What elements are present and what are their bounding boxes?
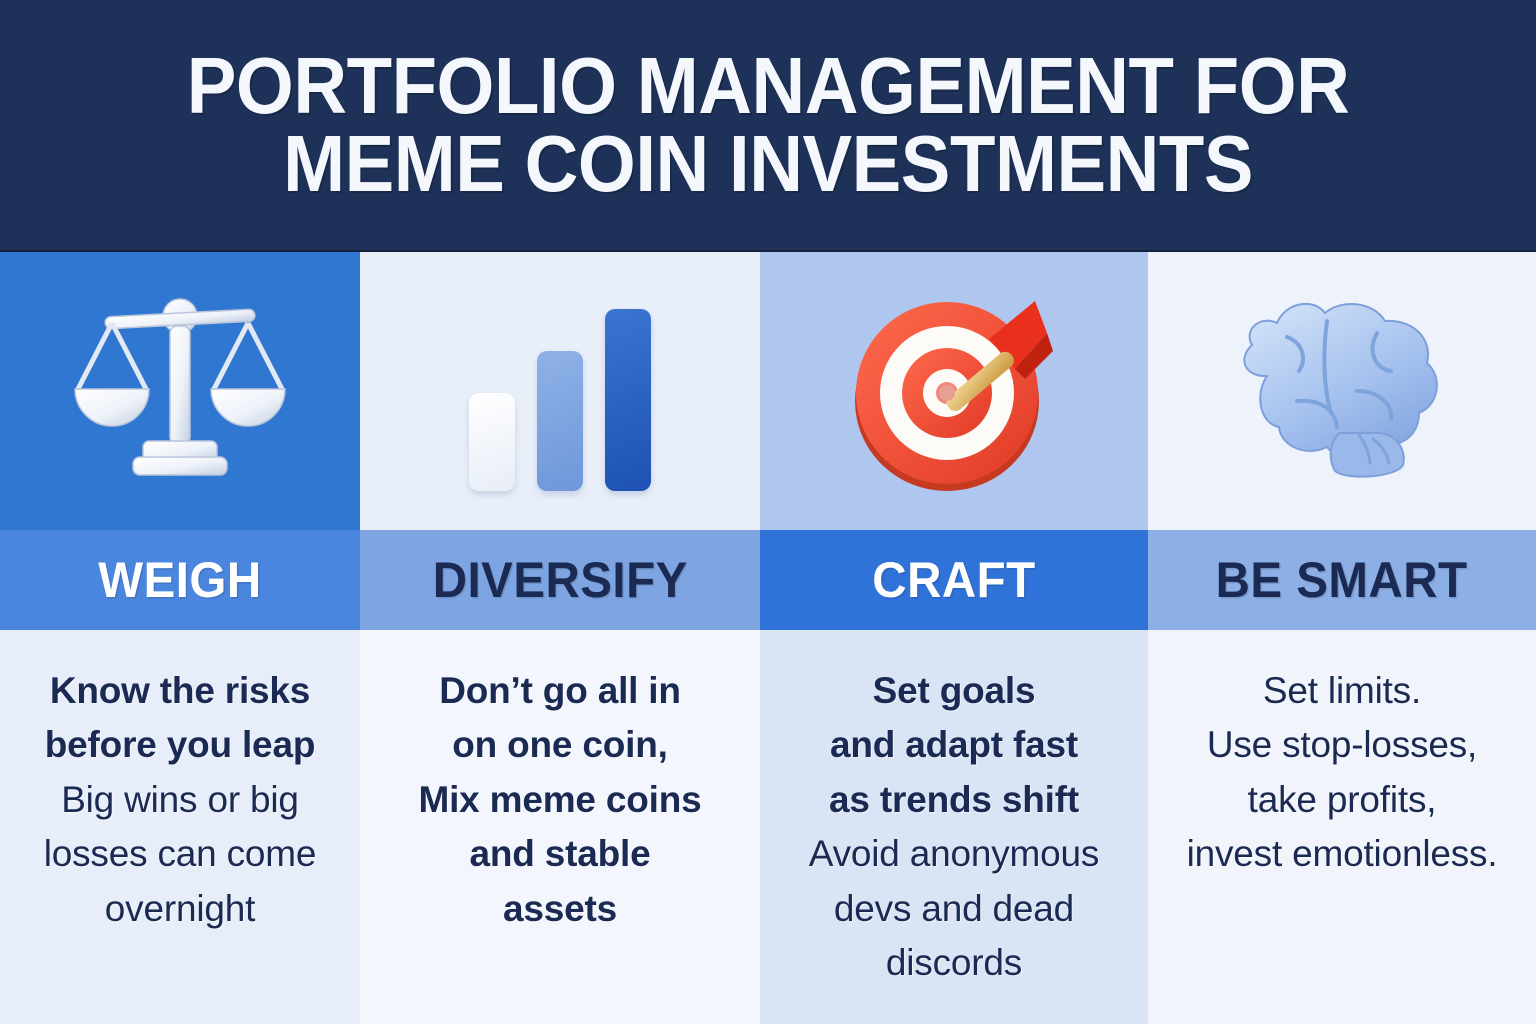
icon-cell-craft bbox=[760, 252, 1148, 530]
body-line: devs and dead bbox=[778, 882, 1130, 936]
icon-cell-be-smart bbox=[1148, 252, 1536, 530]
body-line: losses can come bbox=[18, 827, 342, 881]
icon-cell-diversify bbox=[360, 252, 760, 530]
bar-small bbox=[469, 393, 515, 491]
icon-cell-weigh bbox=[0, 252, 360, 530]
body-line: take profits, bbox=[1166, 773, 1518, 827]
body-line: and adapt fast bbox=[778, 718, 1130, 772]
body-line: Set limits. bbox=[1166, 664, 1518, 718]
columns-grid: WEIGH DIVERSIFY CRAFT BE SMART Know the … bbox=[0, 252, 1536, 1024]
body-line: Set goals bbox=[778, 664, 1130, 718]
column-label-diversify: DIVERSIFY bbox=[432, 551, 687, 609]
label-cell-diversify: DIVERSIFY bbox=[360, 530, 760, 630]
body-line: as trends shift bbox=[778, 773, 1130, 827]
body-line: Big wins or big bbox=[18, 773, 342, 827]
bar-chart-icon bbox=[469, 291, 651, 491]
column-label-craft: CRAFT bbox=[872, 551, 1035, 609]
balance-scale-icon bbox=[65, 281, 295, 501]
body-line: assets bbox=[378, 882, 742, 936]
body-line: discords bbox=[778, 936, 1130, 990]
brain-icon bbox=[1227, 281, 1457, 501]
body-line: invest emotionless. bbox=[1166, 827, 1518, 881]
body-line: Know the risks bbox=[18, 664, 342, 718]
body-line: and stable bbox=[378, 827, 742, 881]
body-line: Avoid anonymous bbox=[778, 827, 1130, 881]
body-line: Don’t go all in bbox=[378, 664, 742, 718]
body-cell-craft: Set goalsand adapt fastas trends shiftAv… bbox=[760, 630, 1148, 1024]
body-line: Mix meme coins bbox=[378, 773, 742, 827]
body-line: overnight bbox=[18, 882, 342, 936]
column-label-be-smart: BE SMART bbox=[1216, 551, 1468, 609]
body-cell-be-smart: Set limits.Use stop-losses,take profits,… bbox=[1148, 630, 1536, 1024]
body-cell-weigh: Know the risksbefore you leapBig wins or… bbox=[0, 630, 360, 1024]
dart-target-icon bbox=[839, 281, 1069, 501]
column-label-weigh: WEIGH bbox=[98, 551, 261, 609]
body-line: on one coin, bbox=[378, 718, 742, 772]
label-cell-weigh: WEIGH bbox=[0, 530, 360, 630]
bar-large bbox=[605, 309, 651, 491]
header-banner: PORTFOLIO MANAGEMENT FOR MEME COIN INVES… bbox=[0, 0, 1536, 252]
label-cell-craft: CRAFT bbox=[760, 530, 1148, 630]
infographic-root: PORTFOLIO MANAGEMENT FOR MEME COIN INVES… bbox=[0, 0, 1536, 1024]
body-line: before you leap bbox=[18, 718, 342, 772]
label-cell-be-smart: BE SMART bbox=[1148, 530, 1536, 630]
bar-medium bbox=[537, 351, 583, 491]
page-title: PORTFOLIO MANAGEMENT FOR MEME COIN INVES… bbox=[187, 47, 1350, 204]
body-cell-diversify: Don’t go all inon one coin,Mix meme coin… bbox=[360, 630, 760, 1024]
body-line: Use stop-losses, bbox=[1166, 718, 1518, 772]
